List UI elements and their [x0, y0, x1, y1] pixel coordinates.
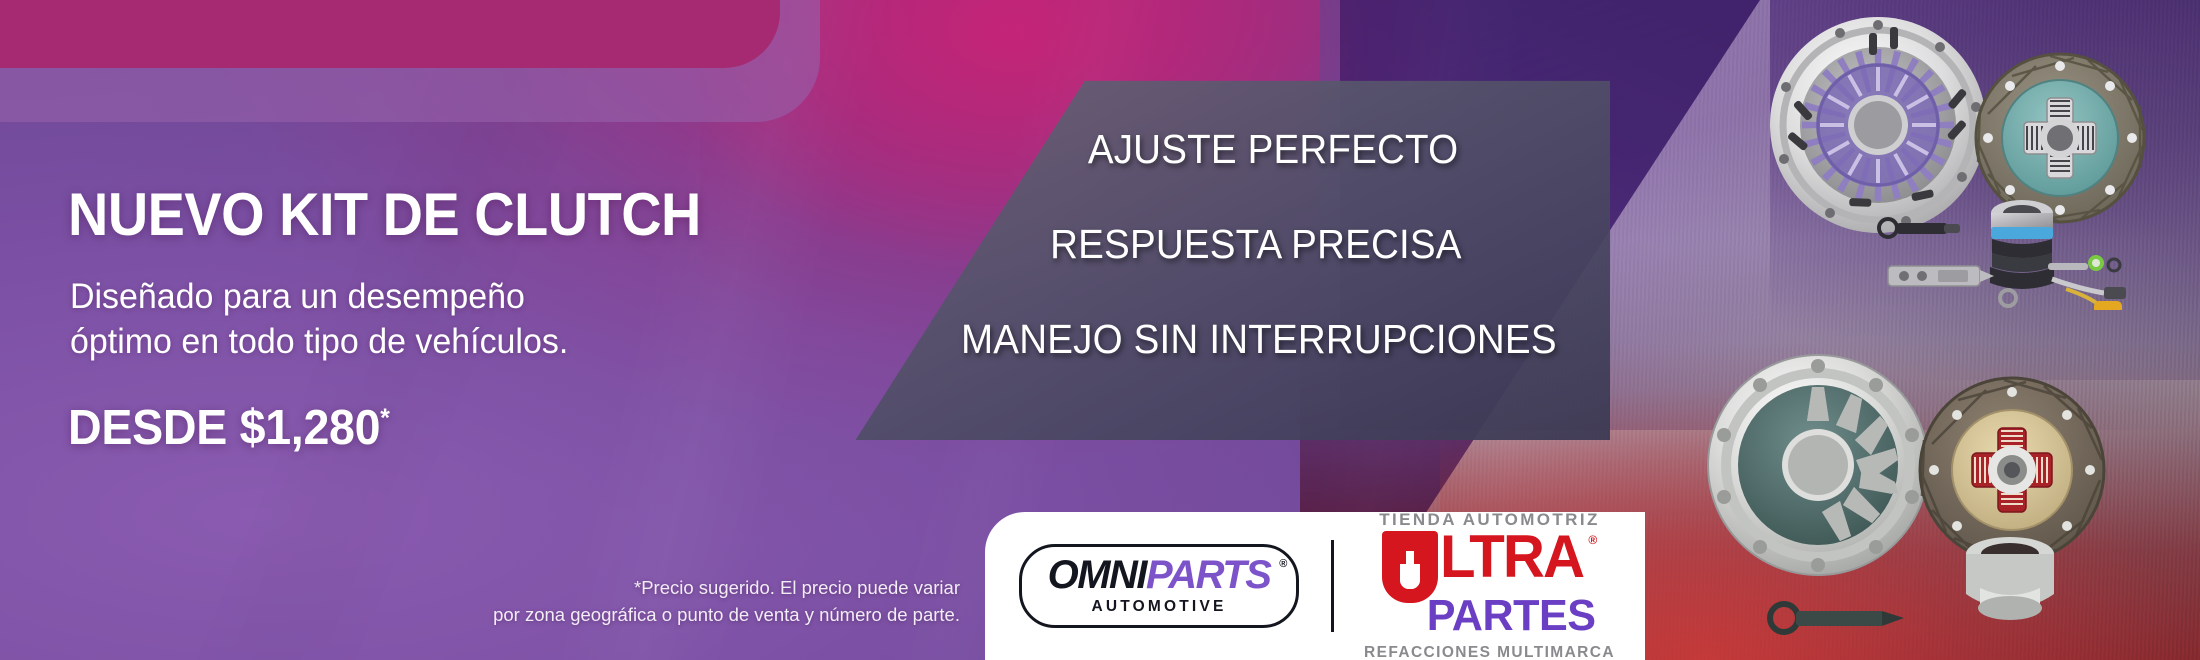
ultrapartes-registered-mark: ® — [1588, 535, 1597, 545]
page-title: NUEVO KIT DE CLUTCH — [68, 180, 701, 249]
benefits-list: AJUSTE PERFECTO RESPUESTA PRECISA MANEJO… — [900, 88, 1620, 418]
product-image-clutch-kit-bottom — [1700, 330, 2170, 650]
promo-subtitle-line-1: Diseñado para un desempeño — [70, 275, 568, 320]
omniparts-logo[interactable]: OMNIPARTS ® AUTOMOTIVE — [985, 544, 1315, 628]
product-image-clutch-kit-top — [1760, 10, 2190, 310]
legal-footnote-line-2: por zona geográfica o punto de venta y n… — [360, 602, 960, 629]
omniparts-tagline: AUTOMOTIVE — [1048, 598, 1271, 616]
price-label: DESDE $1,280 — [68, 401, 380, 455]
omniparts-badge: OMNIPARTS ® AUTOMOTIVE — [1019, 544, 1300, 628]
omniparts-word-omni: OMNI — [1048, 553, 1146, 597]
legal-footnote: *Precio sugerido. El precio puede variar… — [360, 575, 960, 629]
omniparts-registered-mark: ® — [1279, 558, 1287, 570]
benefit-item-2: RESPUESTA PRECISA — [1050, 221, 1462, 268]
promo-subtitle: Diseñado para un desempeño óptimo en tod… — [70, 275, 568, 365]
decorative-card-inner — [0, 0, 780, 68]
benefit-item-3: MANEJO SIN INTERRUPCIONES — [961, 316, 1557, 363]
ultrapartes-bottom-line: REFACCIONES MULTIMARCA — [1364, 644, 1615, 660]
legal-footnote-line-1: *Precio sugerido. El precio puede variar — [360, 575, 960, 602]
price-callout: DESDE $1,280* — [68, 400, 390, 456]
omniparts-wordmark: OMNIPARTS — [1048, 555, 1271, 595]
promo-subtitle-line-2: óptimo en todo tipo de vehículos. — [70, 320, 568, 365]
ultrapartes-logo[interactable]: TIENDA AUTOMOTRIZ LTRA ® PARTES REFACCIO… — [1350, 510, 1645, 660]
ultrapartes-name-accent: PARTES — [1427, 591, 1596, 641]
ultrapartes-name-main: LTRA — [1440, 531, 1583, 583]
logo-panel: OMNIPARTS ® AUTOMOTIVE TIENDA AUTOMOTRIZ… — [985, 512, 1645, 660]
logo-divider — [1331, 540, 1334, 632]
promo-banner: NUEVO KIT DE CLUTCH Diseñado para un des… — [0, 0, 2200, 660]
price-asterisk: * — [380, 403, 389, 433]
omniparts-word-parts: PARTS — [1146, 553, 1270, 597]
benefit-item-1: AJUSTE PERFECTO — [1088, 126, 1458, 173]
